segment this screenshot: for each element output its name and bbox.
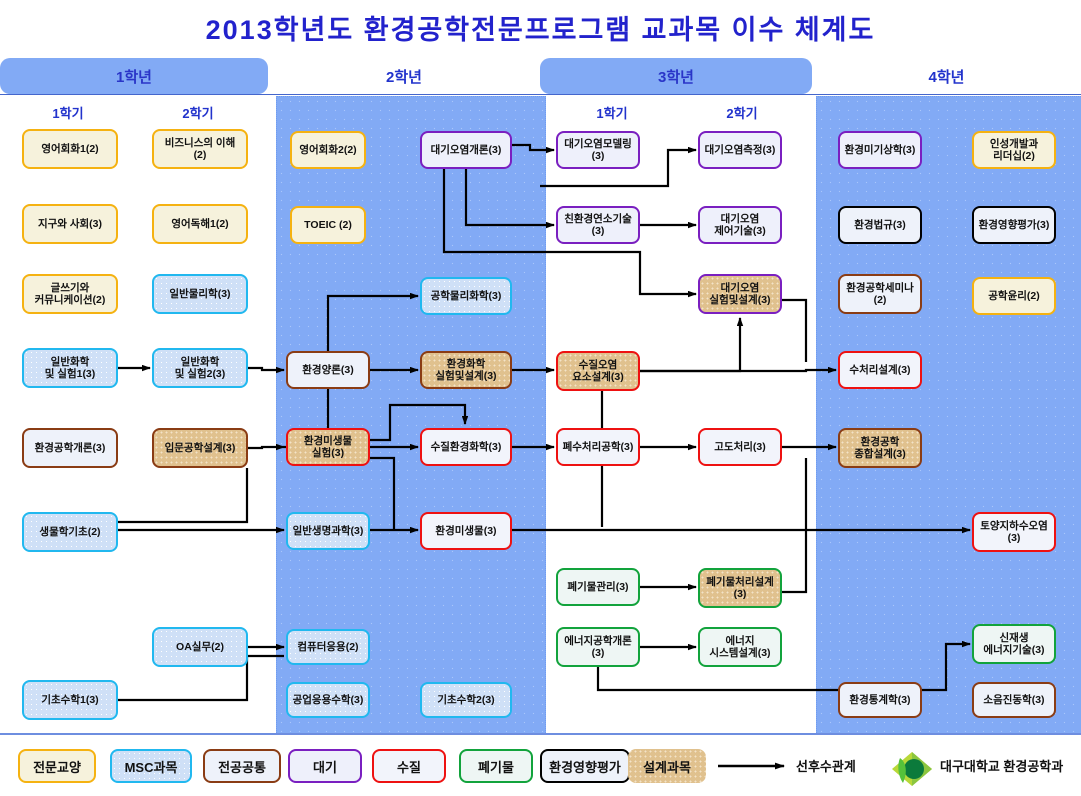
course-box-envmicrolab[interactable]: 환경미생물 실험(3) xyxy=(286,428,370,466)
course-box-envmicro[interactable]: 환경미생물(3) xyxy=(420,512,512,550)
course-box-micromet[interactable]: 환경미기상학(3) xyxy=(838,131,922,169)
course-box-wastewater[interactable]: 폐수처리공학(3) xyxy=(556,428,640,466)
course-box-airmodel[interactable]: 대기오염모델링 (3) xyxy=(556,131,640,169)
course-box-genchem1[interactable]: 일반화학 및 실험1(3) xyxy=(22,348,118,388)
course-box-engread[interactable]: 영어독해1(2) xyxy=(152,204,248,244)
course-box-leader[interactable]: 인성개발과 리더십(2) xyxy=(972,131,1056,169)
course-box-noise[interactable]: 소음진동학(3) xyxy=(972,682,1056,718)
course-box-toeic[interactable]: TOEIC (2) xyxy=(290,206,366,244)
course-box-seminar[interactable]: 환경공학세미나 (2) xyxy=(838,274,922,314)
course-box-airmeasure[interactable]: 대기오염측정(3) xyxy=(698,131,782,169)
course-box-eng1[interactable]: 영어회화1(2) xyxy=(22,129,118,169)
course-box-advtreat[interactable]: 고도처리(3) xyxy=(698,428,782,466)
course-box-basicmath2[interactable]: 기초수학2(3) xyxy=(420,682,512,718)
course-box-wastedes[interactable]: 폐기물처리설계 (3) xyxy=(698,568,782,608)
prerequisite-arrows xyxy=(0,0,1081,794)
course-box-envchemlab[interactable]: 환경화학 실험및설계(3) xyxy=(420,351,512,389)
course-box-energy[interactable]: 에너지공학개론 (3) xyxy=(556,627,640,667)
course-box-oa[interactable]: OA실무(2) xyxy=(152,627,248,667)
course-box-renew[interactable]: 신재생 에너지기술(3) xyxy=(972,624,1056,664)
course-box-envsci[interactable]: 환경양론(3) xyxy=(286,351,370,389)
course-box-engphys[interactable]: 공학물리화학(3) xyxy=(420,277,512,315)
course-box-capstone[interactable]: 환경공학 종합설계(3) xyxy=(838,428,922,468)
course-box-envintro[interactable]: 환경공학개론(3) xyxy=(22,428,118,468)
course-box-ecotech[interactable]: 친환경연소기술 (3) xyxy=(556,206,640,244)
course-box-airintro[interactable]: 대기오염개론(3) xyxy=(420,131,512,169)
course-box-comp[interactable]: 컴퓨터응용(2) xyxy=(286,629,370,665)
course-box-waterdes[interactable]: 수질오염 요소설계(3) xyxy=(556,351,640,391)
course-box-genchem2[interactable]: 일반화학 및 실험2(3) xyxy=(152,348,248,388)
course-box-ethics[interactable]: 공학윤리(2) xyxy=(972,277,1056,315)
course-box-waterdesign[interactable]: 수처리설계(3) xyxy=(838,351,922,389)
course-box-statplan[interactable]: 환경통계학(3) xyxy=(838,682,922,718)
course-box-indmath[interactable]: 공업응용수학(3) xyxy=(286,682,370,718)
course-box-airctrl[interactable]: 대기오염 제어기술(3) xyxy=(698,206,782,244)
course-box-wastemgmt[interactable]: 폐기물관리(3) xyxy=(556,568,640,606)
course-box-eia[interactable]: 환경영향평가(3) xyxy=(972,206,1056,244)
course-box-basicmath1[interactable]: 기초수학1(3) xyxy=(22,680,118,720)
course-box-eng2[interactable]: 영어회화2(2) xyxy=(290,131,366,169)
course-box-soilgw[interactable]: 토양지하수오염 (3) xyxy=(972,512,1056,552)
course-box-airlab[interactable]: 대기오염 실험및설계(3) xyxy=(698,274,782,314)
course-box-writing[interactable]: 글쓰기와 커뮤니케이션(2) xyxy=(22,274,118,314)
course-box-earth[interactable]: 지구와 사회(3) xyxy=(22,204,118,244)
course-box-waterchem[interactable]: 수질환경화학(3) xyxy=(420,428,512,466)
course-box-physics[interactable]: 일반물리학(3) xyxy=(152,274,248,314)
course-box-genlife[interactable]: 일반생명과학(3) xyxy=(286,512,370,550)
course-box-introdes[interactable]: 입문공학설계(3) xyxy=(152,428,248,468)
course-box-envlaw[interactable]: 환경법규(3) xyxy=(838,206,922,244)
course-box-biz[interactable]: 비즈니스의 이해 (2) xyxy=(152,129,248,169)
course-box-energysys[interactable]: 에너지 시스템설계(3) xyxy=(698,627,782,667)
course-box-biobasic[interactable]: 생물학기초(2) xyxy=(22,512,118,552)
